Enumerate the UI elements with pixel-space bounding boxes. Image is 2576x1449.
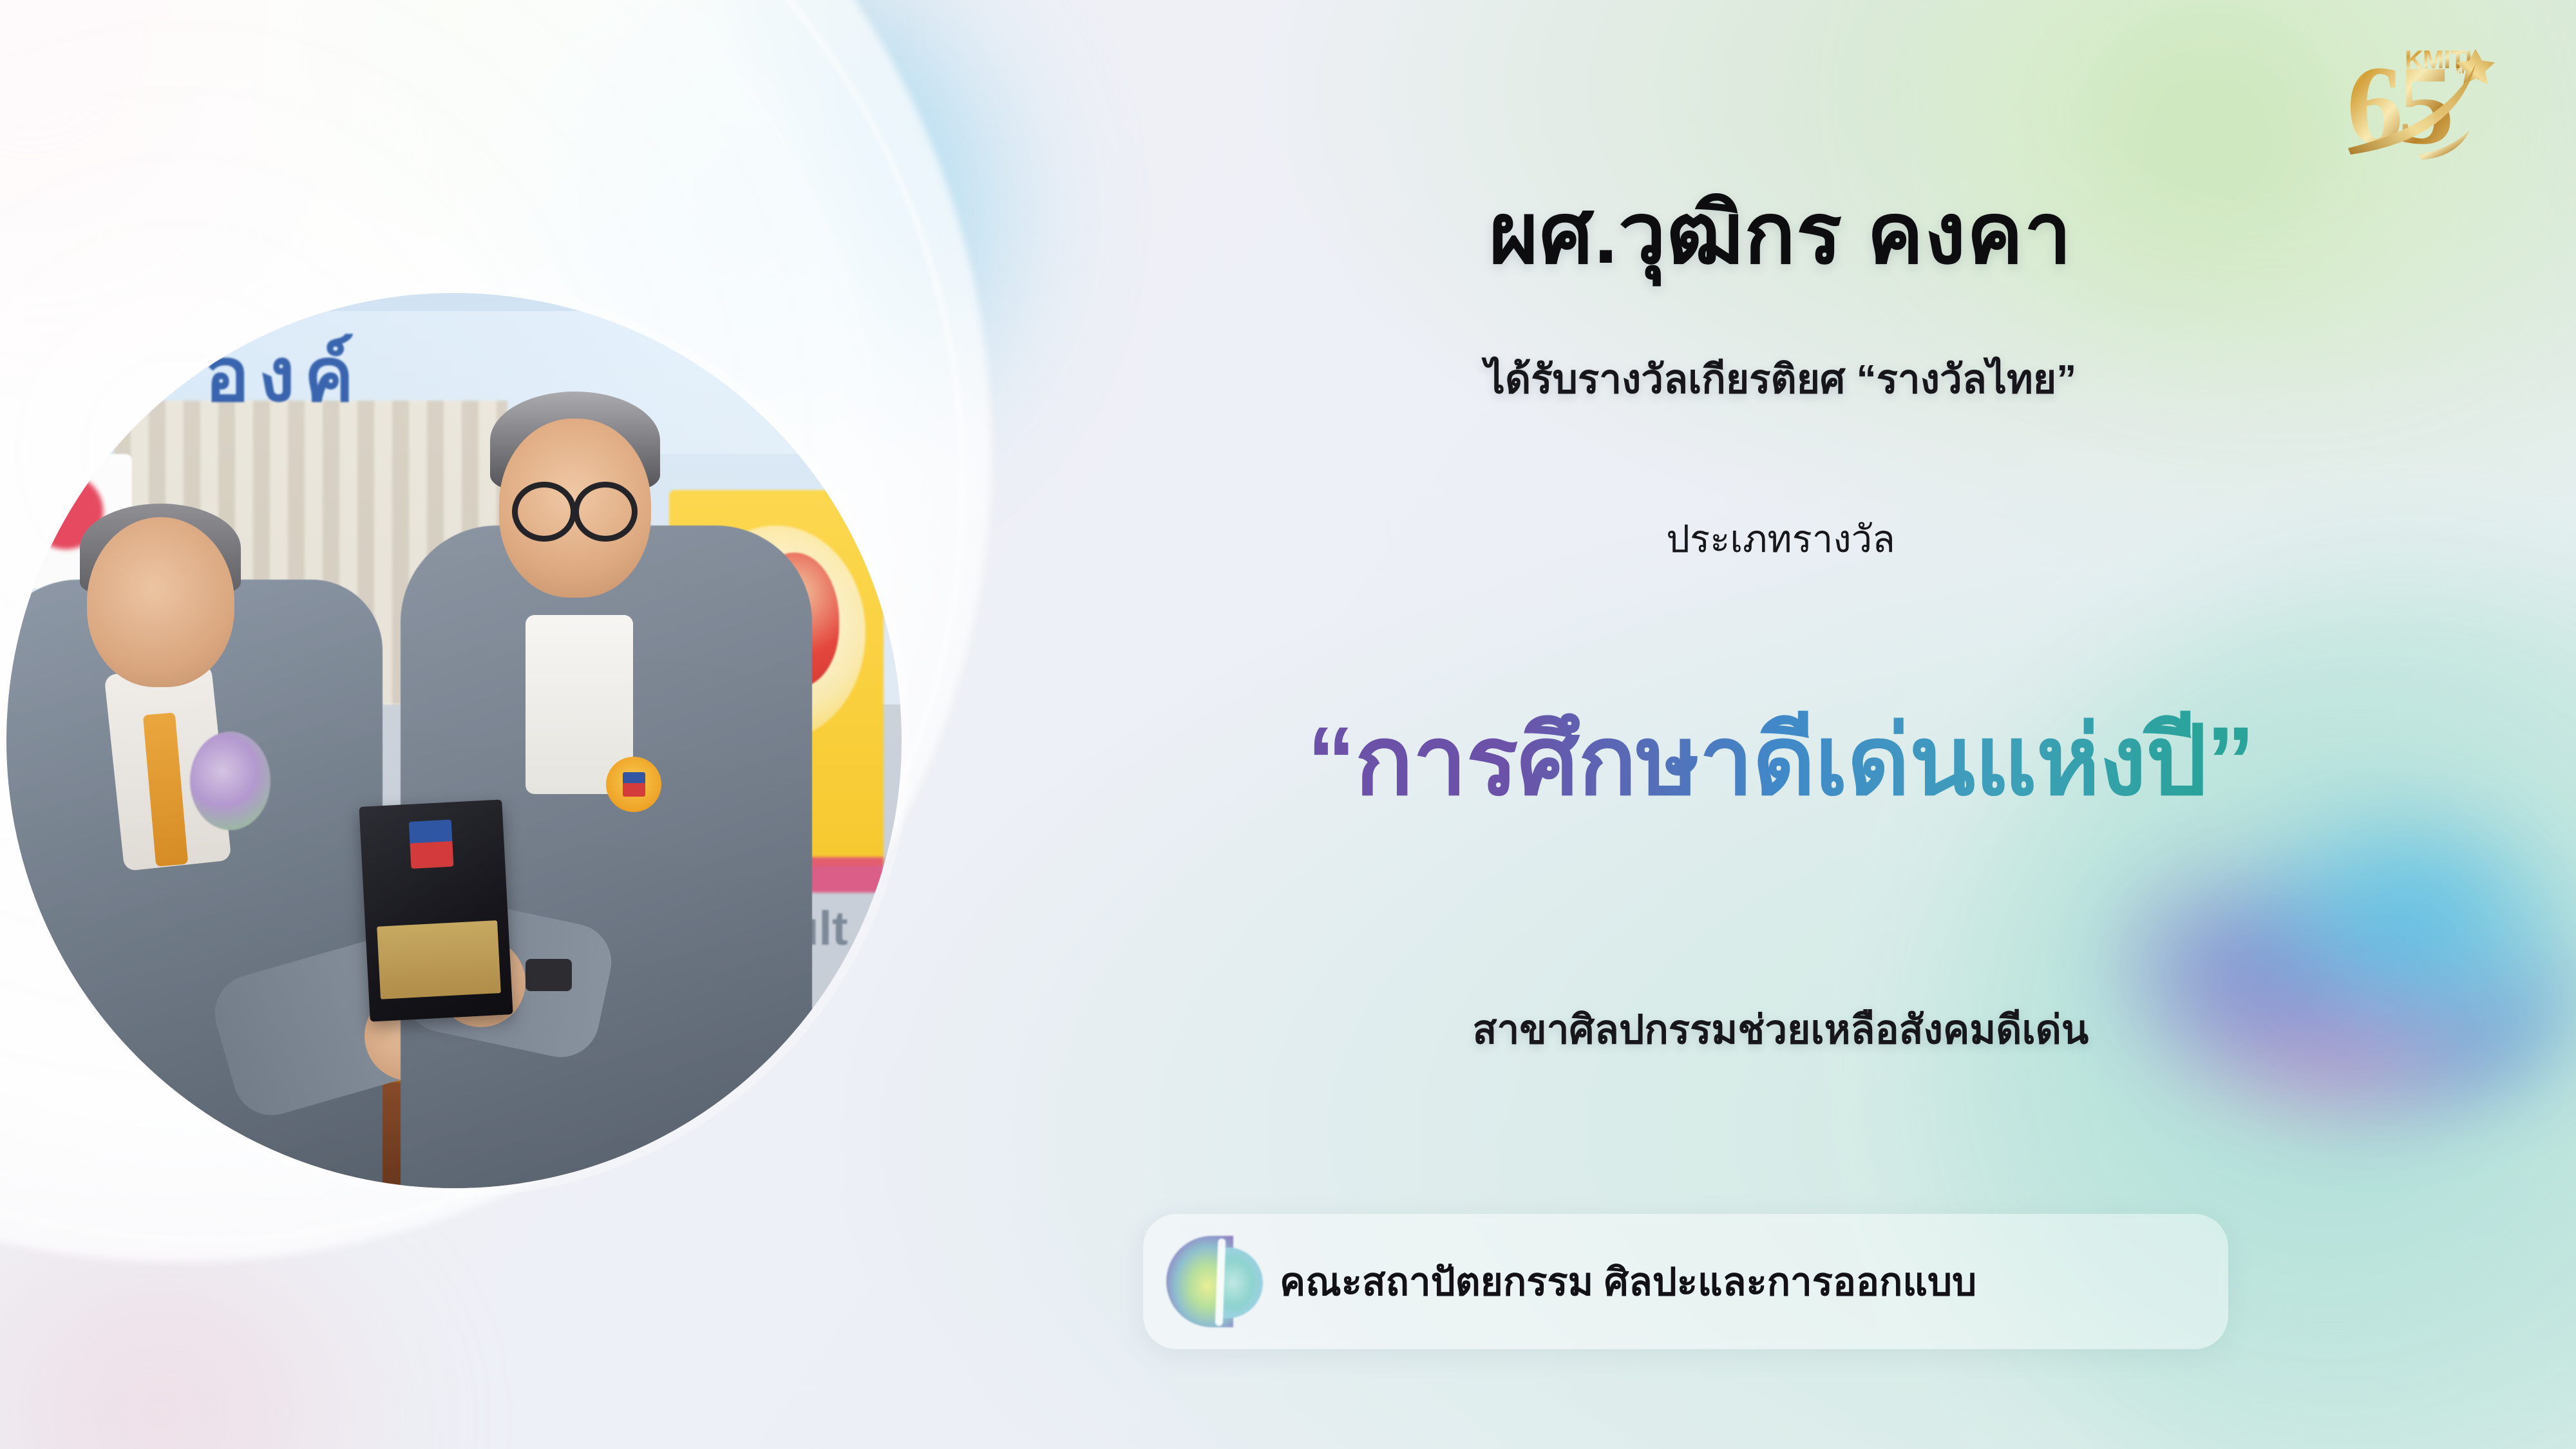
award-category: สาขาศิลปกรรมช่วยเหลือสังคมดีเด่น bbox=[1030, 998, 2531, 1061]
photo-content: สุข องค์ เยมหา ult bbox=[6, 293, 902, 1188]
faculty-name: คณะสถาปัตยกรรม ศิลปะและการออกแบบ bbox=[1280, 1251, 1976, 1312]
award-type-label: ประเภทรางวัล bbox=[1030, 509, 2531, 569]
faculty-bar: คณะสถาปัตยกรรม ศิลปะและการออกแบบ bbox=[1143, 1214, 2228, 1349]
faculty-gradient-mark-icon bbox=[1166, 1233, 1263, 1330]
faculty-mark-right-half bbox=[1220, 1247, 1263, 1318]
award-subtitle: ได้รับรางวัลเกียรติยศ “รางวัลไทย” bbox=[1030, 348, 2531, 411]
photo-tint-overlay bbox=[6, 293, 902, 1188]
award-headline: “การศึกษาดีเด่นแห่งปี” bbox=[1030, 708, 2531, 813]
recipient-name: ผศ.วุฒิกร คงคา bbox=[1030, 187, 2531, 280]
poster-canvas: สุข องค์ เยมหา ult bbox=[0, 0, 2576, 1449]
award-ceremony-photo: สุข องค์ เยมหา ult bbox=[6, 293, 902, 1188]
